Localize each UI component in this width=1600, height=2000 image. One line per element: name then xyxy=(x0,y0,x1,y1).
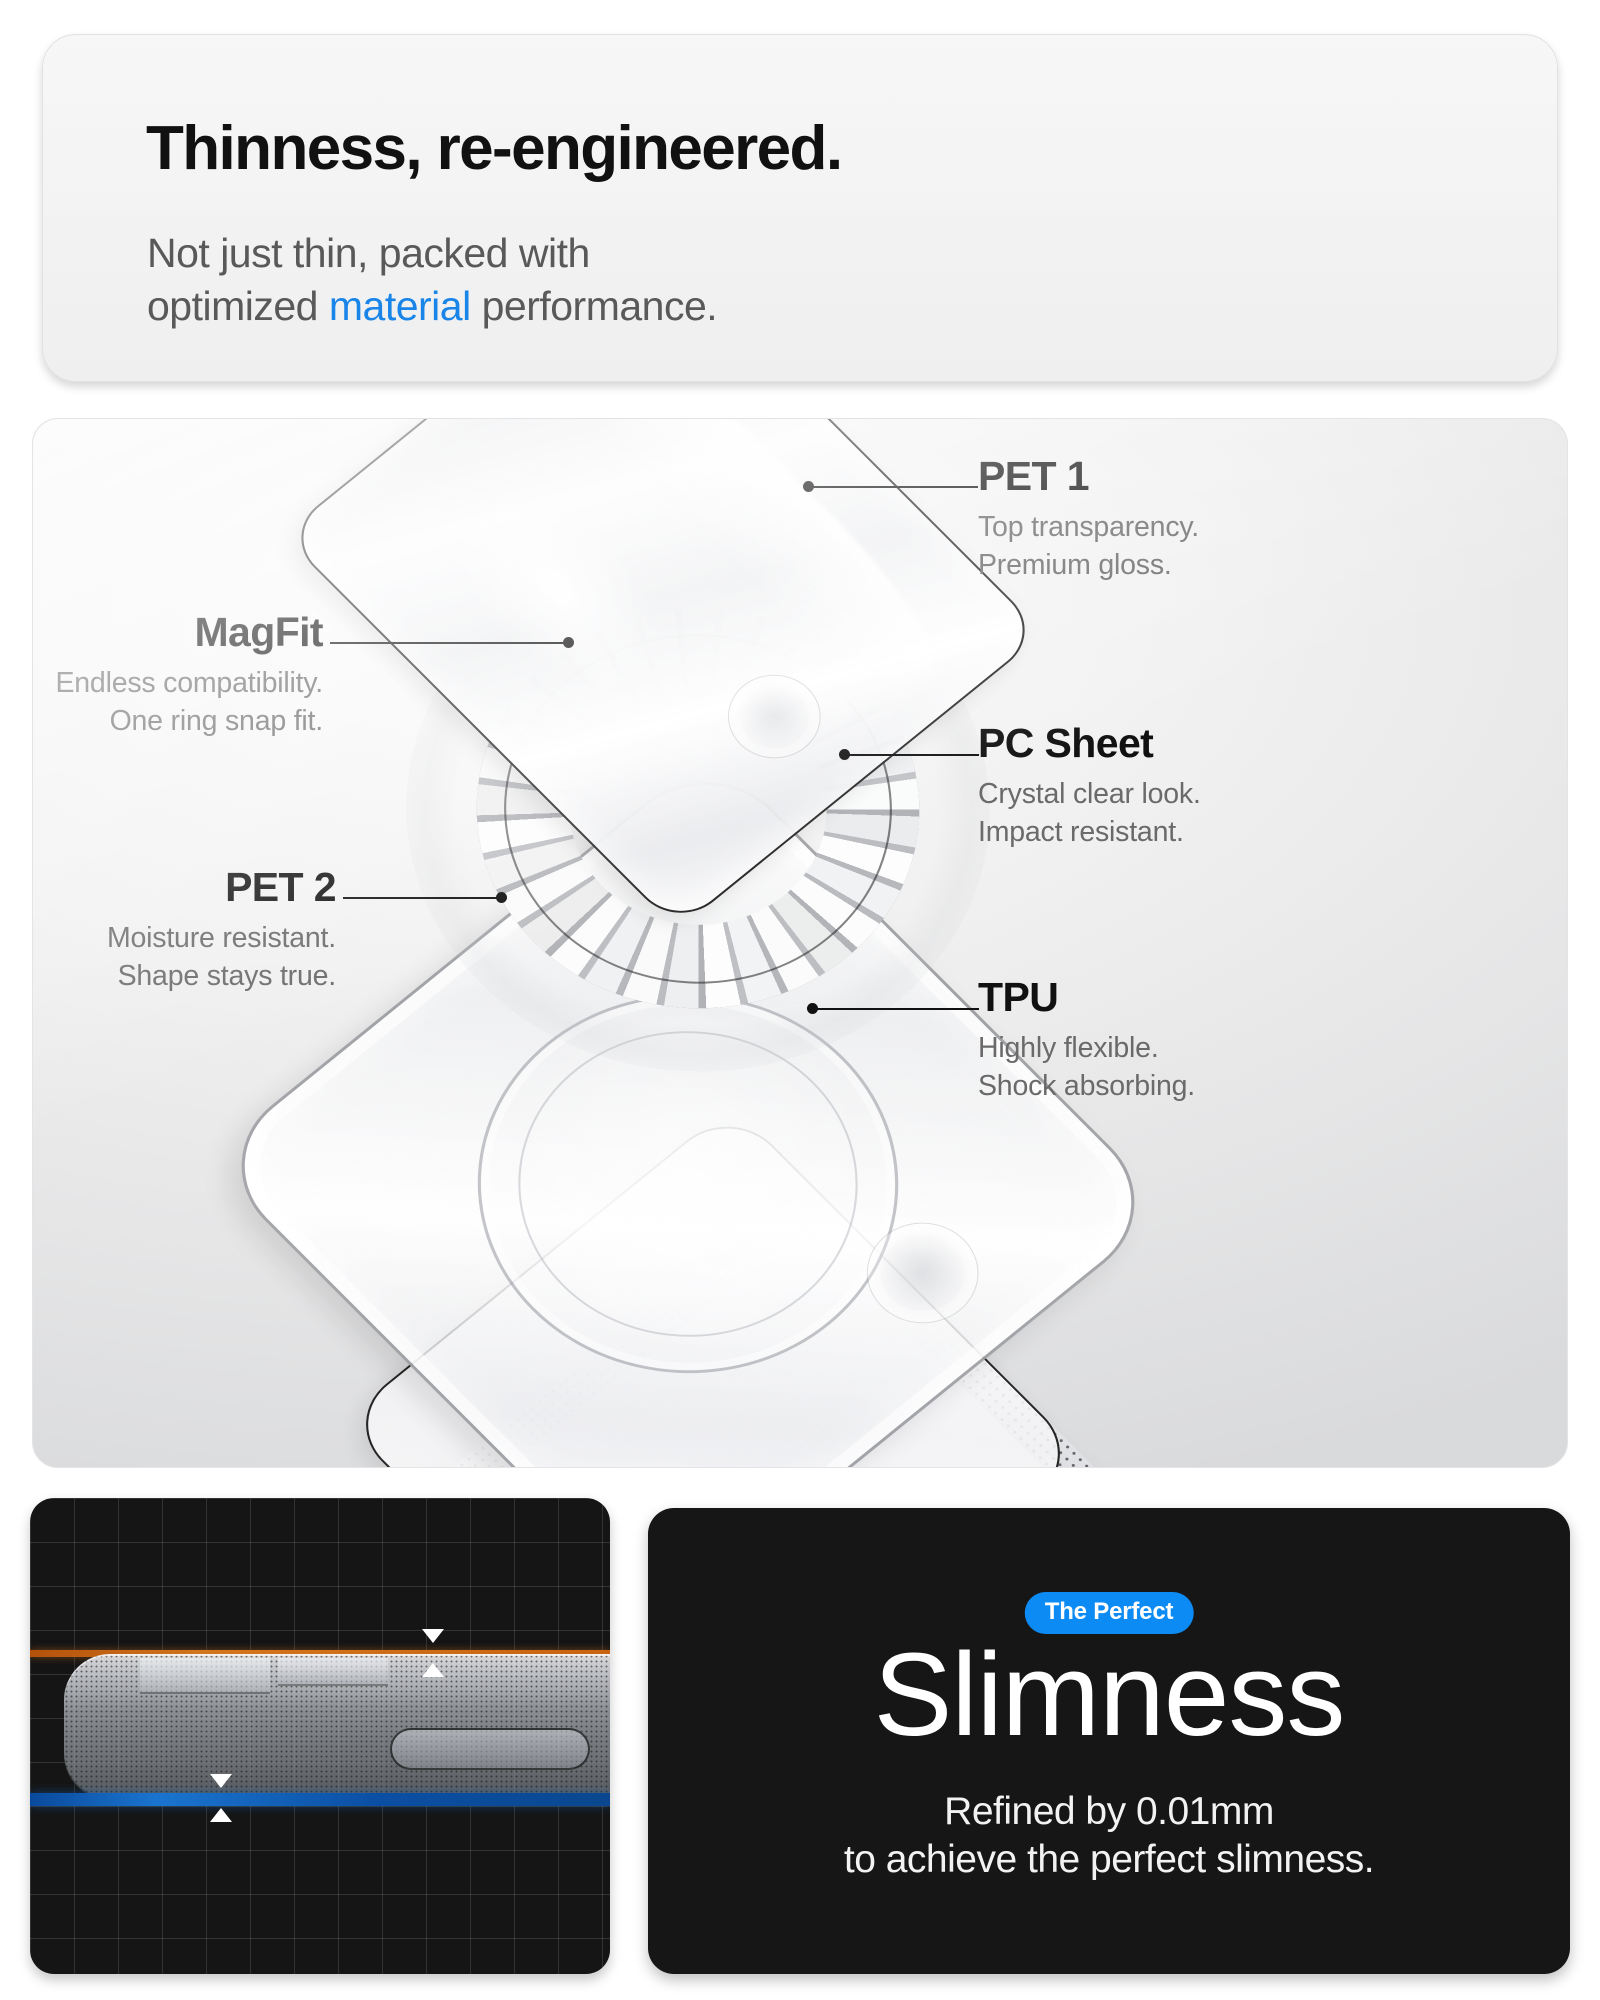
header-card: Thinness, re-engineered. Not just thin, … xyxy=(42,34,1558,382)
label-pet2-desc-1: Moisture resistant. xyxy=(33,921,336,957)
subtitle-accent-word: material xyxy=(329,283,471,329)
tpu-leader-line xyxy=(817,1008,979,1010)
label-pc-sheet-title: PC Sheet xyxy=(978,722,1201,765)
reference-line-bottom xyxy=(30,1793,610,1806)
case-edge-step-1 xyxy=(140,1658,270,1694)
pet1-camera-cutout xyxy=(710,659,838,774)
magfit-leader-line xyxy=(330,642,568,644)
marker-bottom-inner xyxy=(210,1808,232,1822)
diagram-stage: PET 1 Top transparency. Premium gloss. M… xyxy=(33,419,1568,1468)
slimness-subtitle-line-1: Refined by 0.01mm xyxy=(669,1788,1549,1836)
label-pet2-desc-2: Shape stays true. xyxy=(33,959,336,995)
label-pc-sheet-desc-1: Crystal clear look. xyxy=(978,777,1201,813)
pcsheet-leader-line xyxy=(849,754,979,756)
label-pet1-title: PET 1 xyxy=(978,455,1199,498)
page-title: Thinness, re-engineered. xyxy=(146,113,841,184)
subtitle-line-2: optimized material performance. xyxy=(147,280,717,333)
slimness-title: Slimness xyxy=(874,1626,1345,1765)
label-tpu-desc-1: Highly flexible. xyxy=(978,1031,1195,1067)
label-pet1-desc-1: Top transparency. xyxy=(978,510,1199,546)
subtitle-line-1: Not just thin, packed with xyxy=(147,227,717,280)
label-pet2-title: PET 2 xyxy=(33,866,336,909)
product-infographic-page: Thinness, re-engineered. Not just thin, … xyxy=(0,0,1600,2000)
pet1-leader-line xyxy=(813,486,978,488)
label-magfit-desc-2: One ring snap fit. xyxy=(33,704,323,740)
case-edge-step-2 xyxy=(278,1658,388,1686)
subtitle-suffix: performance. xyxy=(471,283,717,329)
label-tpu-desc-2: Shock absorbing. xyxy=(978,1069,1195,1105)
slimness-subtitle-line-2: to achieve the perfect slimness. xyxy=(669,1836,1549,1884)
label-magfit: MagFit Endless compatibility. One ring s… xyxy=(33,611,323,740)
pet2-leader-line xyxy=(343,897,501,899)
label-pc-sheet-desc-2: Impact resistant. xyxy=(978,815,1201,851)
marker-top-inner xyxy=(422,1663,444,1677)
marker-top-outer xyxy=(422,1629,444,1643)
cross-section-panel xyxy=(30,1498,610,1974)
label-magfit-desc-1: Endless compatibility. xyxy=(33,666,323,702)
page-subtitle: Not just thin, packed with optimized mat… xyxy=(147,227,717,334)
label-pet2: PET 2 Moisture resistant. Shape stays tr… xyxy=(33,866,336,995)
label-pc-sheet: PC Sheet Crystal clear look. Impact resi… xyxy=(978,722,1201,851)
pet1-secondary-highlight xyxy=(413,456,703,725)
label-tpu-title: TPU xyxy=(978,976,1195,1019)
exploded-diagram-panel: PET 1 Top transparency. Premium gloss. M… xyxy=(32,418,1568,1468)
case-side-button xyxy=(390,1728,590,1770)
slimness-panel: The Perfect Slimness Refined by 0.01mm t… xyxy=(648,1508,1570,1974)
marker-bottom-outer xyxy=(210,1774,232,1788)
subtitle-prefix: optimized xyxy=(147,283,329,329)
label-pet1: PET 1 Top transparency. Premium gloss. xyxy=(978,455,1199,584)
label-pet1-desc-2: Premium gloss. xyxy=(978,548,1199,584)
slimness-subtitle: Refined by 0.01mm to achieve the perfect… xyxy=(669,1788,1549,1883)
label-tpu: TPU Highly flexible. Shock absorbing. xyxy=(978,976,1195,1105)
label-magfit-title: MagFit xyxy=(33,611,323,654)
